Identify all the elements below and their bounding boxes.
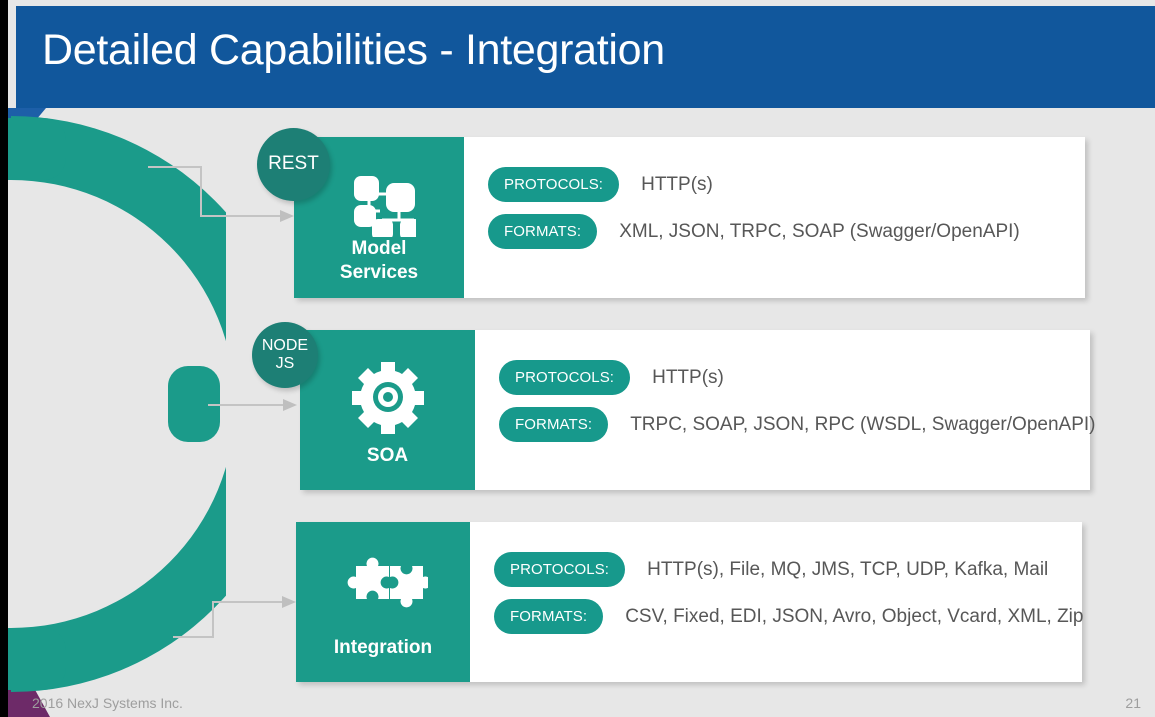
footer-copyright: 2016 NexJ Systems Inc. bbox=[32, 695, 183, 711]
protocols-value: HTTP(s) bbox=[652, 367, 724, 389]
title-band: Detailed Capabilities - Integration bbox=[16, 6, 1155, 108]
protocols-value: HTTP(s), File, MQ, JMS, TCP, UDP, Kafka,… bbox=[647, 559, 1048, 581]
protocols-label: PROTOCOLS: bbox=[494, 552, 625, 587]
formats-label: FORMATS: bbox=[499, 407, 608, 442]
gear-icon bbox=[351, 360, 425, 434]
puzzle-pieces-icon bbox=[338, 552, 428, 618]
page-title: Detailed Capabilities - Integration bbox=[42, 26, 665, 75]
formats-value: XML, JSON, TRPC, SOAP (Swagger/OpenAPI) bbox=[619, 221, 1020, 243]
card-spec-panel: PROTOCOLS: HTTP(s) FORMATS: XML, JSON, T… bbox=[464, 137, 1085, 298]
network-nodes-icon bbox=[342, 167, 416, 237]
formats-label: FORMATS: bbox=[494, 599, 603, 634]
capability-card-integration[interactable]: Integration PROTOCOLS: HTTP(s), File, MQ… bbox=[296, 522, 1082, 682]
slide-canvas: Detailed Capabilities - Integration Inte… bbox=[0, 0, 1155, 717]
card-title: Integration bbox=[328, 636, 438, 660]
card-spec-panel: PROTOCOLS: HTTP(s) FORMATS: TRPC, SOAP, … bbox=[475, 330, 1095, 490]
protocols-row: PROTOCOLS: HTTP(s) bbox=[499, 360, 1095, 395]
badge-rest[interactable]: REST bbox=[257, 128, 330, 201]
formats-value: CSV, Fixed, EDI, JSON, Avro, Object, Vca… bbox=[625, 606, 1083, 628]
card-icon-panel: Integration bbox=[296, 522, 470, 682]
protocols-label: PROTOCOLS: bbox=[488, 167, 619, 202]
card-title: Model Services bbox=[334, 237, 424, 285]
arrowhead-card-1 bbox=[280, 210, 294, 222]
card-icon-panel: SOA bbox=[300, 330, 475, 490]
protocols-value: HTTP(s) bbox=[641, 174, 713, 196]
capability-card-soa[interactable]: SOA PROTOCOLS: HTTP(s) FORMATS: TRPC, SO… bbox=[300, 330, 1090, 490]
integration-ring-graphic: Integration bbox=[0, 104, 226, 704]
card-title: SOA bbox=[361, 444, 414, 468]
protocols-row: PROTOCOLS: HTTP(s), File, MQ, JMS, TCP, … bbox=[494, 552, 1083, 587]
formats-row: FORMATS: XML, JSON, TRPC, SOAP (Swagger/… bbox=[488, 214, 1085, 249]
protocols-row: PROTOCOLS: HTTP(s) bbox=[488, 167, 1085, 202]
capability-card-model-services[interactable]: Model Services PROTOCOLS: HTTP(s) FORMAT… bbox=[294, 137, 1085, 298]
card-spec-panel: PROTOCOLS: HTTP(s), File, MQ, JMS, TCP, … bbox=[470, 522, 1083, 682]
arrowhead-card-2 bbox=[283, 399, 297, 411]
slide-number: 21 bbox=[1125, 695, 1141, 711]
formats-row: FORMATS: TRPC, SOAP, JSON, RPC (WSDL, Sw… bbox=[499, 407, 1095, 442]
formats-row: FORMATS: CSV, Fixed, EDI, JSON, Avro, Ob… bbox=[494, 599, 1083, 634]
formats-value: TRPC, SOAP, JSON, RPC (WSDL, Swagger/Ope… bbox=[630, 414, 1095, 436]
formats-label: FORMATS: bbox=[488, 214, 597, 249]
arrowhead-card-3 bbox=[282, 596, 296, 608]
protocols-label: PROTOCOLS: bbox=[499, 360, 630, 395]
ring-arc-icon bbox=[0, 104, 226, 704]
badge-node-js[interactable]: NODE JS bbox=[252, 322, 318, 388]
